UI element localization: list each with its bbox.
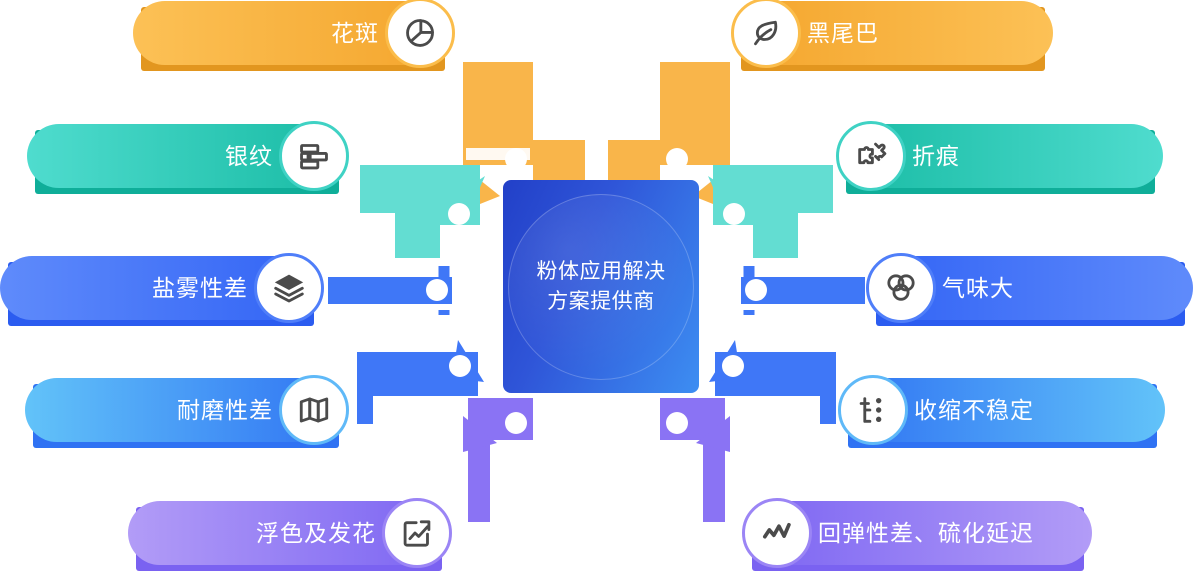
trend-box-icon — [382, 498, 452, 568]
card-label: 银纹 — [225, 145, 273, 168]
center-title: 粉体应用解决 方案提供商 — [503, 180, 699, 393]
card-label: 收缩不稳定 — [914, 399, 1034, 422]
card-label: 花斑 — [331, 22, 379, 45]
conn-yinwen — [360, 165, 485, 258]
card-label: 耐磨性差 — [177, 399, 273, 422]
card-shousuo[interactable]: 收缩不稳定 — [840, 378, 1165, 442]
sitemap-icon — [838, 375, 908, 445]
center-node: 粉体应用解决 方案提供商 — [503, 180, 699, 393]
recycle-icon — [866, 253, 936, 323]
card-huitan[interactable]: 回弹性差、硫化延迟 — [744, 501, 1092, 565]
line-chart-icon — [742, 498, 812, 568]
card-label: 浮色及发花 — [256, 522, 376, 545]
pie-chart-icon — [385, 0, 455, 68]
map-icon — [279, 375, 349, 445]
card-yanwu[interactable]: 盐雾性差 — [0, 256, 322, 320]
conn-fuse — [463, 398, 533, 522]
card-fuse[interactable]: 浮色及发花 — [128, 501, 450, 565]
card-qiwei[interactable]: 气味大 — [868, 256, 1193, 320]
card-naimo[interactable]: 耐磨性差 — [25, 378, 347, 442]
conn-qiwei — [741, 266, 865, 315]
puzzle-icon — [836, 121, 906, 191]
conn-yanwu — [328, 266, 452, 315]
conn-naimo — [357, 340, 484, 424]
layers-icon — [254, 253, 324, 323]
leaf-icon — [731, 0, 801, 68]
infographic-canvas: 粉体应用解决 方案提供商 花斑 黑尾巴 — [0, 0, 1193, 577]
card-label: 气味大 — [942, 277, 1014, 300]
conn-zhehen — [708, 165, 833, 258]
conn-shousuo — [709, 340, 836, 424]
card-yinwen[interactable]: 银纹 — [27, 124, 347, 188]
brick-wall-icon — [279, 121, 349, 191]
card-label: 盐雾性差 — [152, 277, 248, 300]
card-zhehen[interactable]: 折痕 — [838, 124, 1163, 188]
card-label: 回弹性差、硫化延迟 — [818, 522, 1034, 545]
conn-huitan — [660, 398, 730, 522]
card-huaban[interactable]: 花斑 — [133, 1, 453, 65]
card-label: 折痕 — [912, 145, 960, 168]
card-heiweiba[interactable]: 黑尾巴 — [733, 1, 1053, 65]
card-label: 黑尾巴 — [807, 22, 879, 45]
